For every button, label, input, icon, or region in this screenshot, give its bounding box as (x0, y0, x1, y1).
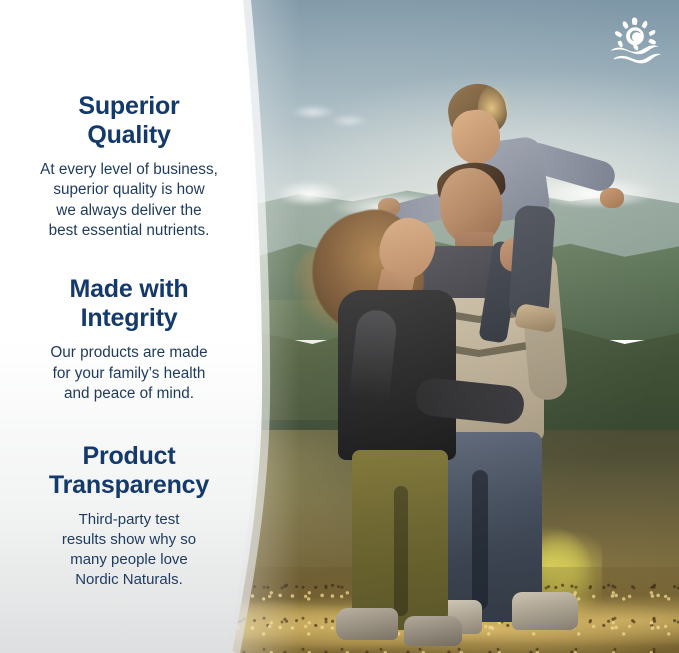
brand-values-banner: Superior Quality At every level of busin… (0, 0, 679, 653)
sun-and-waves-logo-icon (607, 16, 663, 66)
value-block-product-transparency: Product Transparency Third-party test re… (10, 442, 248, 590)
value-description: At every level of business, superior qua… (10, 160, 248, 241)
value-title: Made with Integrity (10, 275, 248, 332)
woman-pants-gap (394, 486, 408, 616)
man-jeans-gap (472, 470, 488, 610)
value-description: Our products are made for your family’s … (10, 343, 248, 404)
value-title: Superior Quality (10, 92, 248, 149)
value-title: Product Transparency (10, 442, 248, 499)
value-block-superior-quality: Superior Quality At every level of busin… (10, 92, 248, 241)
value-block-made-with-integrity: Made with Integrity Our products are mad… (10, 275, 248, 404)
woman-right-shoe (404, 616, 462, 646)
woman-left-shoe (336, 608, 398, 640)
child-right-hand (600, 188, 624, 208)
value-description: Third-party test results show why so man… (10, 510, 248, 590)
child-leg (508, 205, 556, 320)
values-list: Superior Quality At every level of busin… (0, 0, 262, 653)
man-right-shoe (512, 592, 578, 630)
